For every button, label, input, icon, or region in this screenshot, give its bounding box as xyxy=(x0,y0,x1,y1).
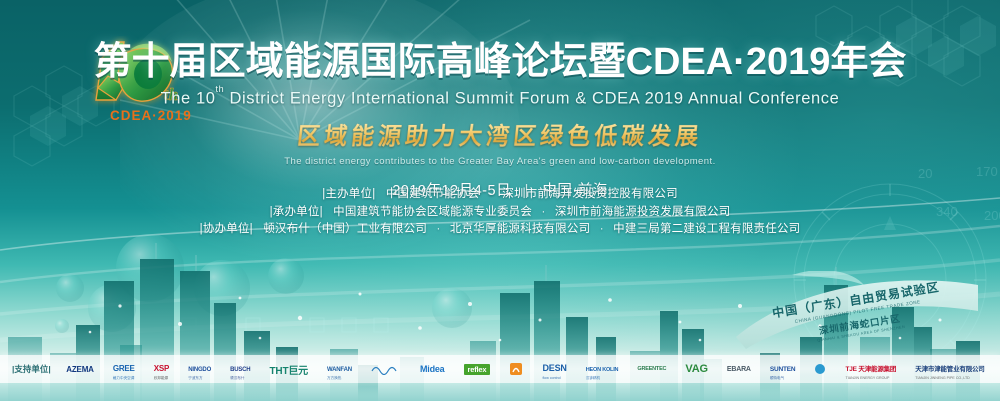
sponsor-logo[interactable]: DESNflow control xyxy=(533,355,576,383)
sponsor-name: HEON KOLIN xyxy=(586,367,619,373)
sponsor-name: WANFAN xyxy=(327,367,352,373)
sponsor-name: THT巨元 xyxy=(270,362,308,377)
sponsor-subtitle: 万方换热 xyxy=(327,376,352,381)
organizer-row-host: |主办单位| 中国建筑节能协会 · 深圳市前海开发投资控股有限公司 xyxy=(0,186,1000,204)
circle-mark-icon xyxy=(814,363,826,375)
organizer-dot: · xyxy=(600,223,604,235)
organizer-dot: · xyxy=(489,188,493,200)
sponsor-subtitle: 宁波东方 xyxy=(188,376,211,381)
sponsor-logo[interactable] xyxy=(500,355,533,383)
organizer-entity: 中国建筑节能协会区域能源专业委员会 xyxy=(333,206,532,218)
sponsor-name: XSP xyxy=(154,364,169,373)
sponsor-bar-label: |支持单位| xyxy=(6,363,57,375)
sponsor-name: AZEMA xyxy=(66,365,93,374)
sponsor-logo[interactable]: NINGDO宁波东方 xyxy=(179,355,221,383)
sponsor-subtitle: 汉钟精机 xyxy=(586,376,619,381)
sponsor-name: GREE xyxy=(113,364,135,373)
sponsor-name: TJE 天津能源集团 xyxy=(846,366,897,373)
title-en-ordinal: th xyxy=(216,84,225,94)
sponsor-subtitle: 欣邦能源 xyxy=(154,376,169,381)
sponsor-logo[interactable]: reflex xyxy=(454,355,500,383)
page-title: 第十届区域能源国际高峰论坛暨CDEA·2019年会 xyxy=(0,43,1000,83)
organizer-entity: 中建三局第二建设工程有限责任公司 xyxy=(613,223,800,235)
sponsor-name: 天津市津能管业有限公司 xyxy=(915,366,984,373)
sponsor-logo[interactable]: HEON KOLIN汉钟精机 xyxy=(576,355,628,383)
sponsor-logo-bar: |支持单位| AZEMA GREE格力中央空调 XSP欣邦能源 NINGDO宁波… xyxy=(0,355,1000,383)
sponsor-logo[interactable]: SUNTEN顺特电气 xyxy=(760,355,805,383)
sponsor-name: GREENTEC xyxy=(637,366,666,372)
sponsor-logo[interactable]: VAG xyxy=(676,355,717,383)
sponsor-subtitle: 顺特电气 xyxy=(770,376,796,381)
sponsor-name: SUNTEN xyxy=(770,366,796,373)
sponsor-subtitle: TIANJIN JINNENG PIPE CO.,LTD xyxy=(915,376,984,380)
sponsor-logo[interactable]: BUSCH顿汉布什 xyxy=(221,355,260,383)
sponsor-logo[interactable]: GREENTEC xyxy=(628,355,676,383)
sponsor-name: EBARA xyxy=(727,366,751,373)
organizer-tag: |承办单位| xyxy=(270,206,323,218)
subtitle-chinese: 区域能源助力大湾区绿色低碳发展 xyxy=(0,117,1000,151)
subtitle-english: The district energy contributes to the G… xyxy=(0,156,1000,167)
sponsor-logo[interactable]: WANFAN万方换热 xyxy=(318,355,362,383)
sponsor-logo[interactable]: THT巨元 xyxy=(260,355,318,383)
title-en-pre: The 10 xyxy=(161,89,216,107)
organizer-entity: 深圳市前海开发投资控股有限公司 xyxy=(502,188,678,200)
organizer-dot: · xyxy=(541,206,545,218)
sponsor-name: BUSCH xyxy=(230,367,250,373)
header-block: 第十届区域能源国际高峰论坛暨CDEA·2019年会 The 10th Distr… xyxy=(0,0,1000,200)
sponsor-subtitle: flow control xyxy=(543,376,567,380)
sponsor-name: VAG xyxy=(685,363,707,375)
sponsor-logo[interactable]: TJE 天津能源集团TIANJIN ENERGY GROUP xyxy=(836,355,906,383)
sponsor-subtitle: 格力中央空调 xyxy=(113,376,135,381)
sponsor-logo[interactable] xyxy=(805,355,836,383)
wave-icon xyxy=(371,363,401,375)
sponsor-logo[interactable]: 天津市津能管业有限公司TIANJIN JINNENG PIPE CO.,LTD xyxy=(906,355,994,383)
sponsor-subtitle: 顿汉布什 xyxy=(230,376,250,381)
organizer-row-undertaker: |承办单位| 中国建筑节能协会区域能源专业委员会 · 深圳市前海能源投资发展有限… xyxy=(0,204,1000,222)
square-mark-icon xyxy=(509,362,523,376)
page-title-english: The 10th District Energy International S… xyxy=(0,89,1000,109)
qianhai-free-trade-zone-badge: 中国（广东）自由贸易试验区 CHINA (GUANGDONG) PILOT FR… xyxy=(732,271,982,349)
sponsor-name: Midea xyxy=(420,364,445,374)
organizer-entity: 中国建筑节能协会 xyxy=(386,188,480,200)
sponsor-logo[interactable]: AZEMA xyxy=(57,355,104,383)
sponsor-name: NINGDO xyxy=(188,367,211,373)
sponsor-subtitle: TIANJIN ENERGY GROUP xyxy=(846,376,897,380)
organizer-entity: 深圳市前海能源投资发展有限公司 xyxy=(555,206,731,218)
sponsor-name: DESN xyxy=(543,363,567,373)
sponsor-logo[interactable]: XSP欣邦能源 xyxy=(144,355,178,383)
sponsor-logo[interactable]: EBARA xyxy=(717,355,760,383)
sponsor-logo[interactable]: Midea xyxy=(410,355,454,383)
title-en-post: District Energy International Summit For… xyxy=(224,89,839,107)
organizer-tag: |主办单位| xyxy=(322,188,375,200)
sponsor-logo[interactable] xyxy=(361,355,410,383)
conference-banner: 20170 340200 116 xyxy=(0,0,1000,401)
sponsor-name: reflex xyxy=(464,364,491,375)
sponsor-logo[interactable]: GREE格力中央空调 xyxy=(103,355,144,383)
bottom-strip xyxy=(0,383,1000,401)
